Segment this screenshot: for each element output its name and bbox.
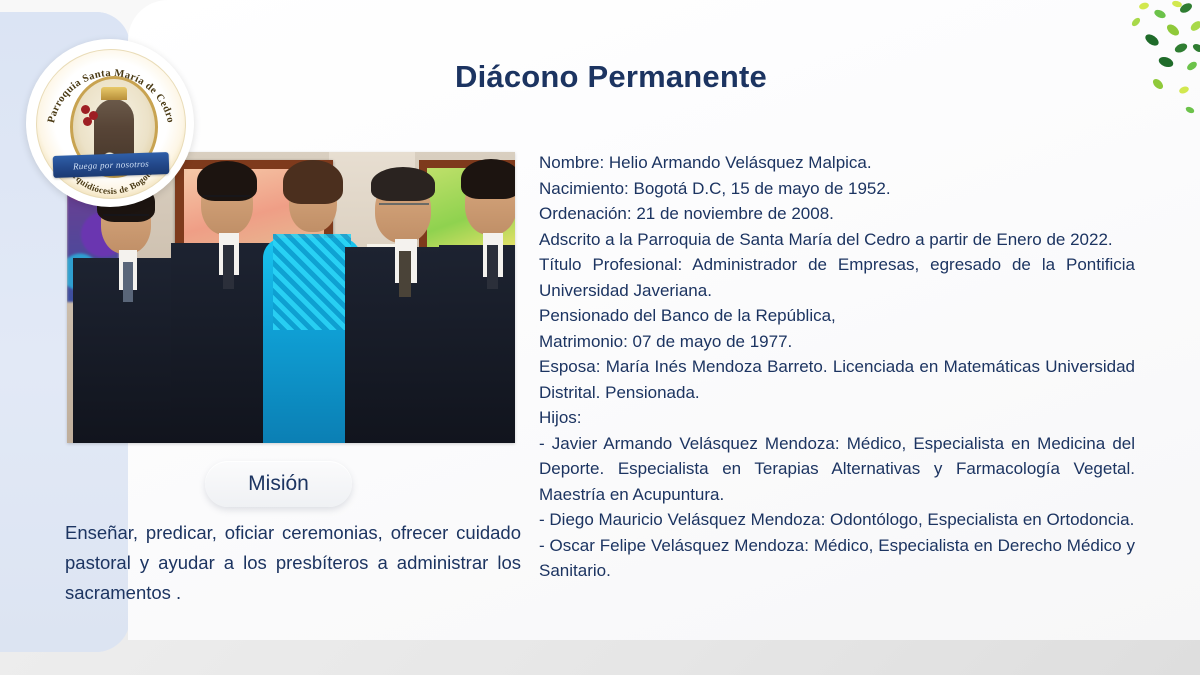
info-line: Ordenación: 21 de noviembre de 2008. [539, 201, 1135, 227]
parish-logo-ribbon: Ruega por nosotros [53, 152, 170, 178]
info-line: Nombre: Helio Armando Velásquez Malpica. [539, 150, 1135, 176]
deacon-info-block: Nombre: Helio Armando Velásquez Malpica.… [539, 150, 1135, 584]
info-line: Título Profesional: Administrador de Emp… [539, 252, 1135, 303]
photo-person-3-shawl [273, 234, 351, 330]
slide-canvas: Parroquia Santa María de Cedro Parroquia… [0, 0, 1200, 675]
page-title: Diácono Permanente [455, 59, 767, 95]
mision-badge-label: Misión [248, 472, 309, 496]
mission-paragraph: Enseñar, predicar, oficiar ceremonias, o… [65, 518, 521, 608]
mision-badge: Misión [205, 461, 352, 507]
info-line: Adscrito a la Parroquia de Santa María d… [539, 227, 1135, 253]
photo-person-1 [73, 258, 185, 443]
info-line: - Oscar Felipe Velásquez Mendoza: Médico… [539, 533, 1135, 584]
parish-logo: Parroquia Santa María de Cedro Parroquia… [26, 39, 194, 207]
info-line: Nacimiento: Bogotá D.C, 15 de mayo de 19… [539, 176, 1135, 202]
info-line: - Diego Mauricio Velásquez Mendoza: Odon… [539, 507, 1135, 533]
info-line: Matrimonio: 07 de mayo de 1977. [539, 329, 1135, 355]
parish-logo-disc: Parroquia Santa María de Cedro Parroquia… [36, 49, 186, 199]
info-line: - Javier Armando Velásquez Mendoza: Médi… [539, 431, 1135, 508]
parish-logo-ribbon-text: Ruega por nosotros [53, 152, 170, 178]
photo-person-5 [439, 245, 515, 443]
info-line: Esposa: María Inés Mendoza Barreto. Lice… [539, 354, 1135, 405]
info-line: Hijos: [539, 405, 1135, 431]
roses-icon [81, 105, 101, 127]
crown-icon [101, 87, 127, 100]
info-line: Pensionado del Banco de la República, [539, 303, 1135, 329]
